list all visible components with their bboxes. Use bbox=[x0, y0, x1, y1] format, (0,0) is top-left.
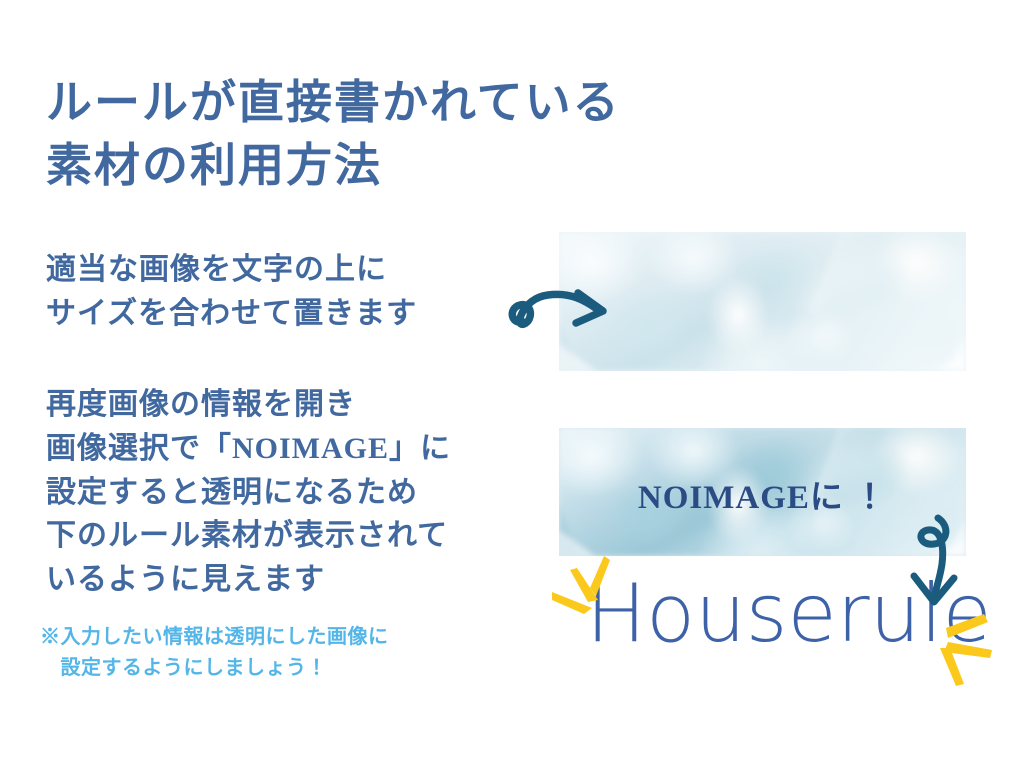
crystal-texture bbox=[559, 232, 966, 371]
crystal-photo-top bbox=[559, 232, 966, 371]
page-title: ルールが直接書かれている 素材の利用方法 bbox=[46, 72, 746, 197]
instruction-paragraph-2: 再度画像の情報を開き 画像選択で「NOIMAGE」に 設定すると透明になるため … bbox=[46, 383, 546, 602]
noimage-overlay-label: NOIMAGEに ！ bbox=[559, 470, 966, 518]
footnote-text: ※入力したい情報は透明にした画像に 設定するようにしましょう！ bbox=[40, 622, 510, 684]
crystal-facets bbox=[559, 232, 966, 371]
instruction-paragraph-1: 適当な画像を文字の上に サイズを合わせて置きます bbox=[46, 248, 526, 336]
houserule-wordmark: Houserule bbox=[586, 574, 992, 654]
slide-canvas: ルールが直接書かれている 素材の利用方法 適当な画像を文字の上に サイズを合わせ… bbox=[0, 0, 1024, 768]
